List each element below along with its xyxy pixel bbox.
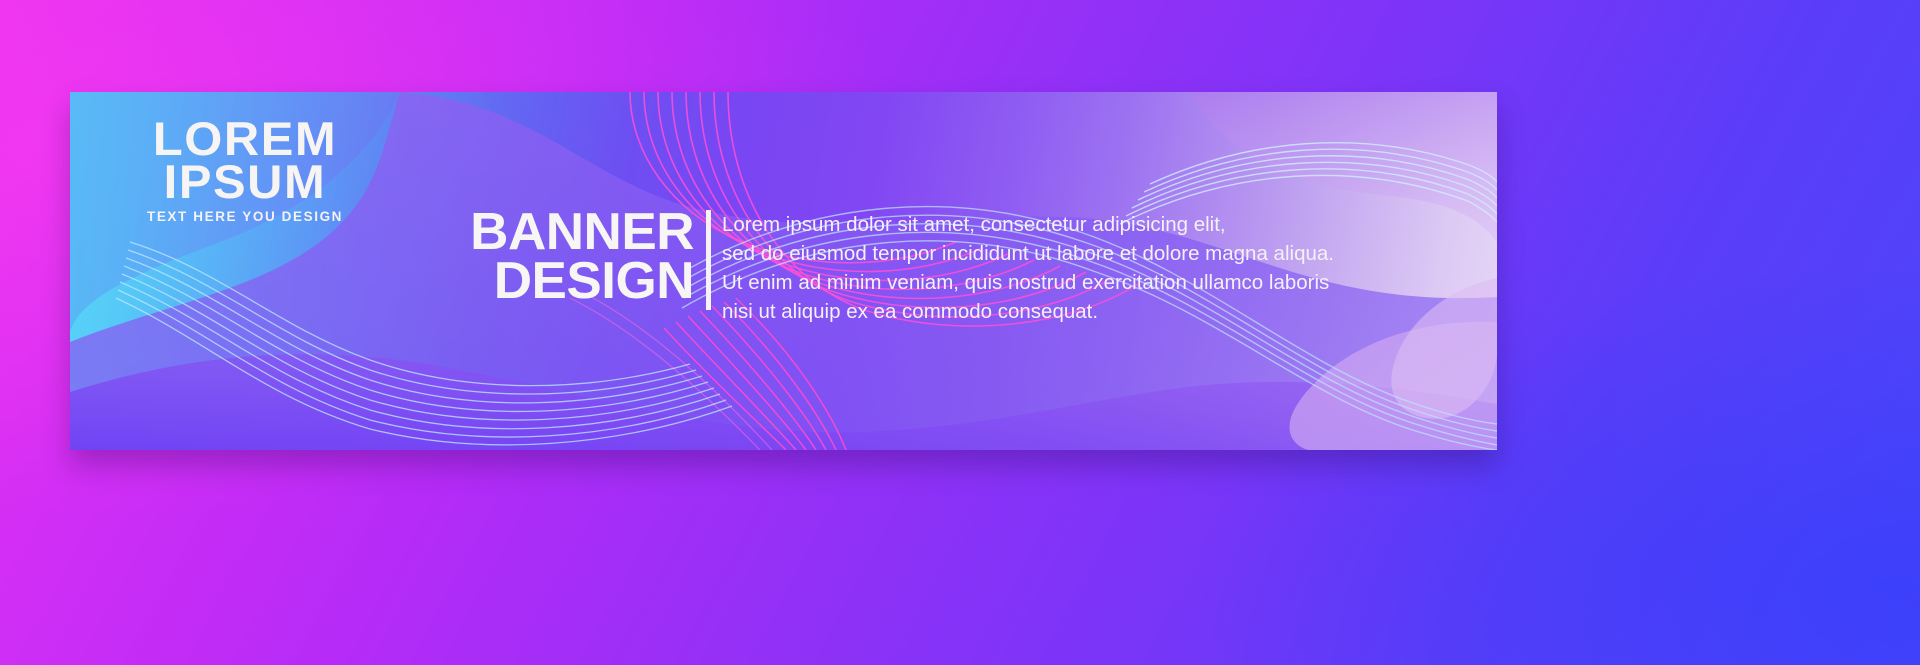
- body-line-1: Lorem ipsum dolor sit amet, consectetur …: [722, 210, 1322, 239]
- headline-line-1: BANNER: [449, 208, 694, 257]
- body-line-4: nisi ut aliquip ex ea commodo consequat.: [722, 297, 1322, 326]
- body-line-3: Ut enim ad minim veniam, quis nostrud ex…: [722, 268, 1322, 297]
- logo-tagline: TEXT HERE YOU DESIGN: [110, 209, 380, 224]
- logo-block: LOREM IPSUM TEXT HERE YOU DESIGN: [110, 117, 380, 224]
- vertical-divider: [706, 210, 711, 310]
- headline-block: BANNER DESIGN: [454, 208, 694, 307]
- body-line-2: sed do eiusmod tempor incididunt ut labo…: [722, 239, 1322, 268]
- logo-line-1: LOREM: [105, 117, 386, 160]
- banner-canvas: LOREM IPSUM TEXT HERE YOU DESIGN BANNER …: [0, 0, 1920, 665]
- headline-line-2: DESIGN: [449, 257, 694, 306]
- logo-line-2: IPSUM: [105, 160, 386, 203]
- banner-panel: LOREM IPSUM TEXT HERE YOU DESIGN BANNER …: [70, 92, 1497, 450]
- body-copy: Lorem ipsum dolor sit amet, consectetur …: [722, 210, 1322, 326]
